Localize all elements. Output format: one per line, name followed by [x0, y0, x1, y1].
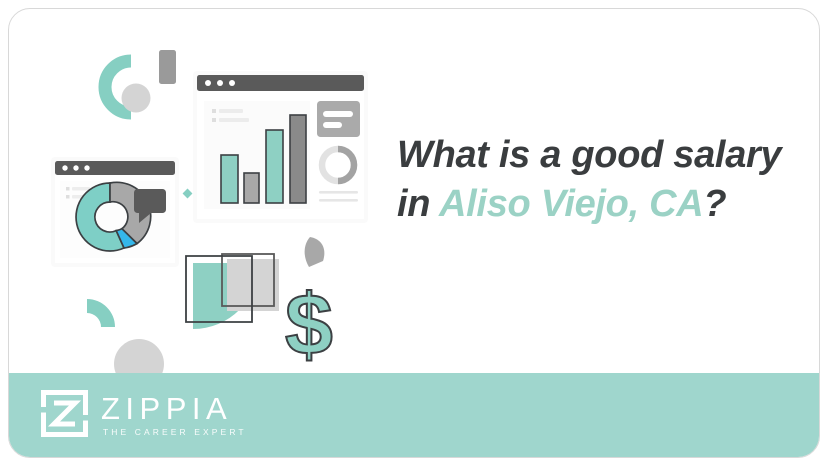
dollar-sign-icon: $: [285, 277, 333, 373]
gray-circle-small: [122, 84, 151, 113]
teal-quarter-arc: [87, 299, 115, 327]
zippia-wordmark: ZIPPIA THE CAREER EXPERT: [101, 390, 247, 437]
headline-line-2-prefix: in: [397, 183, 439, 225]
window-dot: [84, 165, 89, 170]
zippia-logo[interactable]: ZIPPIA THE CAREER EXPERT: [41, 390, 247, 437]
headline-location: Aliso Viejo, CA: [439, 183, 703, 225]
zippia-mark-icon: [41, 390, 88, 437]
window-dot: [217, 80, 223, 86]
window-dot: [229, 80, 235, 86]
slide-root: $ What is a good salary in Aliso Viejo, …: [0, 0, 828, 466]
content-card: $ What is a good salary in Aliso Viejo, …: [8, 8, 820, 458]
headline-line-2-suffix: ?: [703, 183, 726, 225]
gray-rounded-rect: [159, 50, 176, 84]
teal-diamond: [183, 189, 193, 199]
hero-illustration: $: [9, 9, 399, 409]
window-dot: [62, 165, 67, 170]
brand-name: ZIPPIA: [101, 393, 247, 424]
gray-square: [227, 259, 279, 311]
headline-line-1: What is a good salary: [397, 134, 781, 176]
brand-tagline: THE CAREER EXPERT: [103, 428, 247, 437]
bar-chart-browser-window[interactable]: [193, 71, 368, 223]
svg-text:$: $: [285, 277, 333, 373]
window-dot: [205, 80, 211, 86]
window-dot: [73, 165, 78, 170]
donut-tooltip: [134, 189, 166, 213]
page-title: What is a good salary in Aliso Viejo, CA…: [397, 131, 797, 228]
gray-petal: [305, 237, 325, 267]
donut-chart-browser-window[interactable]: [51, 157, 179, 267]
